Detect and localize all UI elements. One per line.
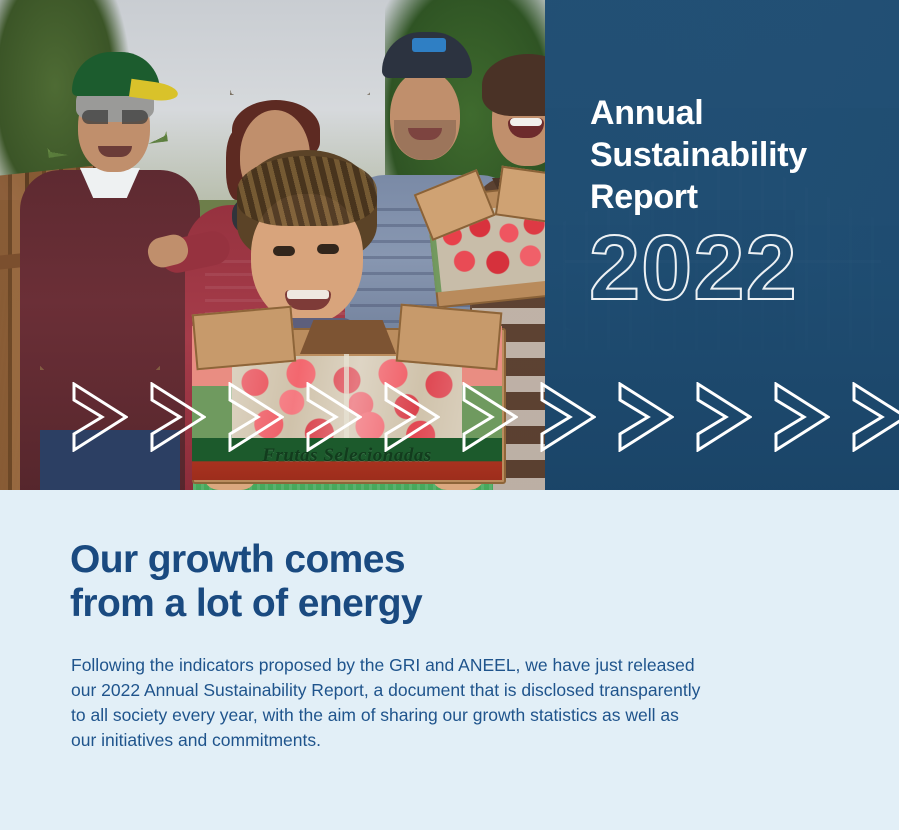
paragraph-line-3: to all society every year, with the aim … [71, 703, 843, 728]
report-title-line-2: Sustainability [590, 134, 890, 176]
person-boy-eye-left [273, 246, 295, 256]
strawberry-crate-main: Frutas Selecionadas [192, 310, 502, 480]
crate-label-band: Frutas Selecionadas [192, 438, 502, 480]
crate-lid-middle [300, 320, 396, 354]
person-elder-man-jeans [40, 430, 180, 490]
crate-lid-right [396, 304, 503, 371]
section-heading: Our growth comes from a lot of energy [70, 538, 670, 626]
hero-section: Frutas Selecionadas Annual Sustainabilit… [0, 0, 899, 490]
teeth [510, 118, 542, 126]
crate-label-text: Frutas Selecionadas [262, 445, 431, 467]
bare-branch [230, 5, 370, 95]
hero-blue-panel: Annual Sustainability Report 2022 [545, 0, 899, 490]
section-paragraph: Following the indicators proposed by the… [71, 653, 843, 753]
cap-logo [412, 38, 446, 52]
report-title-line-3: Report [590, 176, 890, 218]
person-boy-hair-texture [237, 156, 377, 226]
report-year: 2022 [589, 222, 798, 314]
person-boy-eye-right [317, 244, 339, 254]
content-section: Our growth comes from a lot of energy Fo… [0, 490, 899, 830]
argyle-pattern [40, 220, 160, 370]
report-title: Annual Sustainability Report [590, 92, 890, 218]
report-landing-page: Frutas Selecionadas Annual Sustainabilit… [0, 0, 899, 830]
eyeglasses [82, 110, 148, 124]
hero-photo: Frutas Selecionadas [0, 0, 545, 490]
paragraph-line-2: our 2022 Annual Sustainability Report, a… [71, 678, 843, 703]
crate-lid-left [192, 306, 297, 371]
section-heading-line-1: Our growth comes [70, 538, 670, 582]
paragraph-line-1: Following the indicators proposed by the… [71, 653, 843, 678]
paragraph-line-4: our initiatives and commitments. [71, 728, 843, 753]
report-title-line-1: Annual [590, 92, 890, 134]
person-boy-teeth [287, 290, 329, 299]
section-heading-line-2: from a lot of energy [70, 582, 670, 626]
